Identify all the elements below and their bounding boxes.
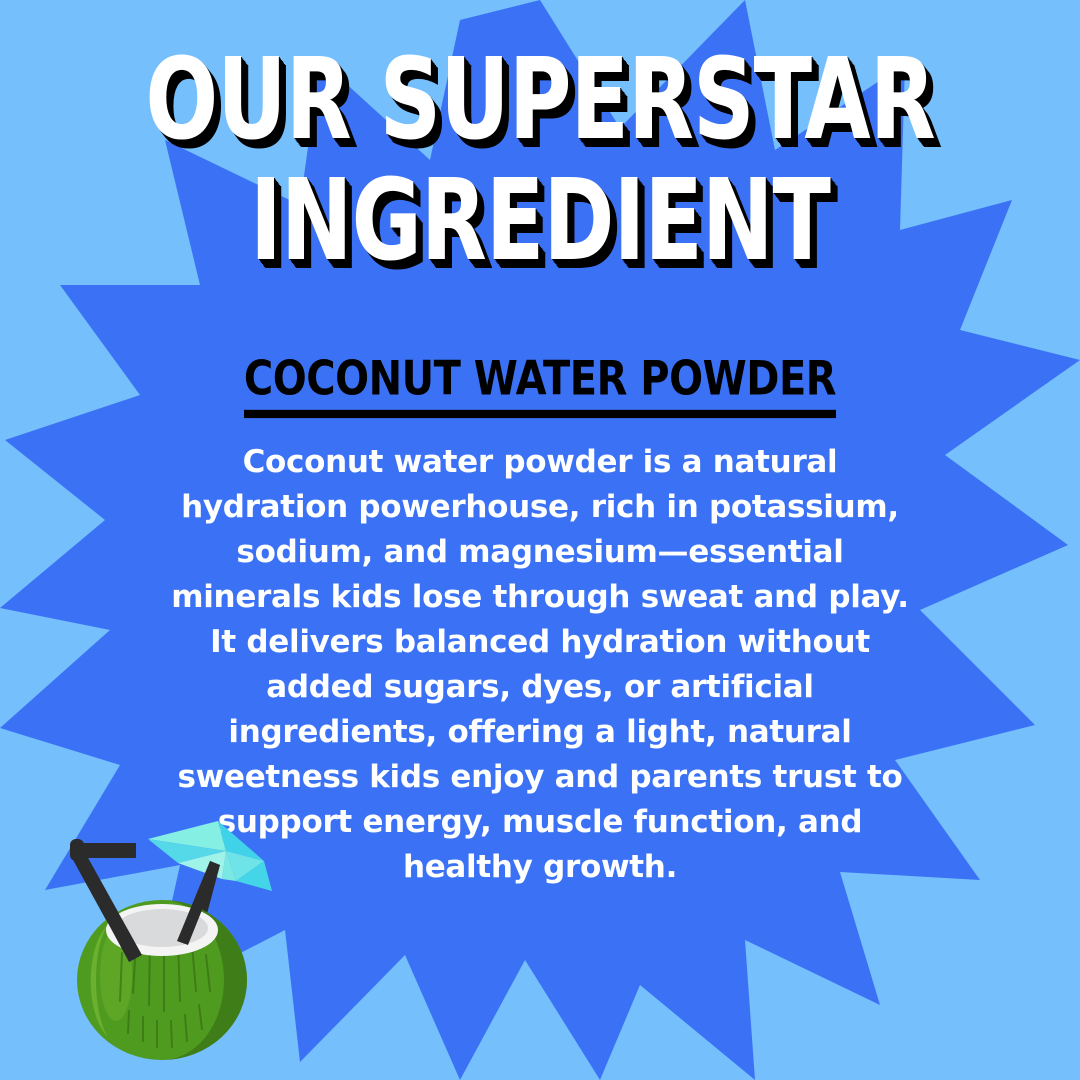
coconut-drink-illustration <box>50 805 320 1080</box>
ingredient-name-heading: COCONUT WATER POWDER <box>244 352 836 418</box>
poster-canvas: OUR SUPERSTAR INGREDIENT COCONUT WATER P… <box>0 0 1080 1080</box>
straw-left-cap <box>70 839 84 861</box>
subtitle-container: COCONUT WATER POWDER <box>0 352 1080 408</box>
